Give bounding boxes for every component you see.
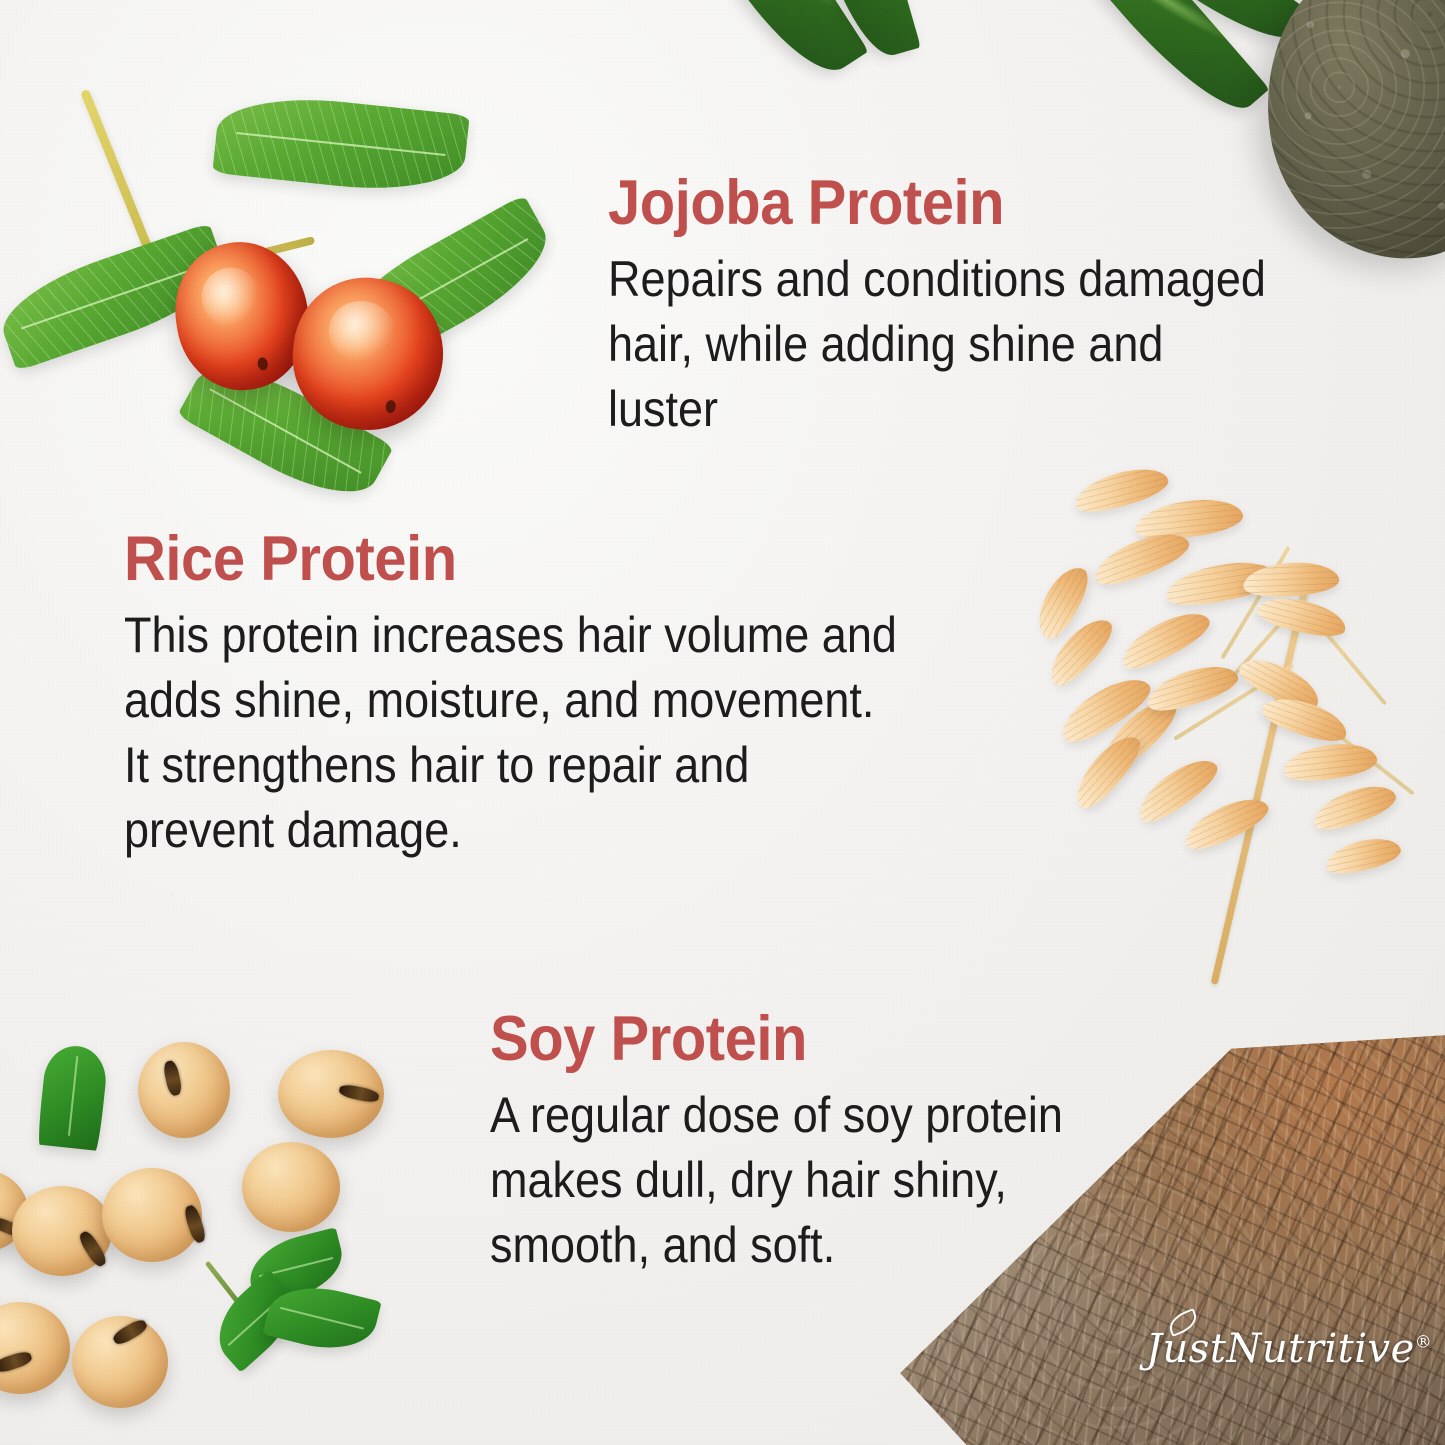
- soybean: [0, 1302, 70, 1394]
- rice-line-1: This protein increases hair volume and: [124, 603, 898, 668]
- oat-grain: [1281, 739, 1379, 786]
- soybean: [12, 1186, 112, 1276]
- brand-name: JustNutritive: [1146, 1326, 1415, 1372]
- rice-heading: Rice Protein: [124, 528, 915, 591]
- jujube-stem: [80, 89, 156, 259]
- soybean: [278, 1050, 384, 1138]
- jojoba-heading: Jojoba Protein: [608, 172, 1307, 235]
- soybean: [242, 1142, 340, 1232]
- jojoba-body: Repairs and conditions damaged hair, whi…: [608, 247, 1292, 442]
- soy-leaf-icon: [37, 1043, 109, 1151]
- soybean: [102, 1168, 202, 1262]
- section-rice: Rice Protein This protein increases hair…: [124, 528, 984, 863]
- oat-grain: [1115, 602, 1215, 676]
- rice-line-4: prevent damage.: [124, 798, 898, 863]
- soybean-photo: [0, 1020, 420, 1445]
- soy-line-1: A regular dose of soy protein: [490, 1083, 1102, 1148]
- jojoba-line-3: luster: [608, 377, 1292, 442]
- soy-body: A regular dose of soy protein makes dull…: [490, 1083, 1102, 1278]
- oat-sprig-photo: [995, 455, 1415, 1015]
- jojoba-line-2: hair, while adding shine and: [608, 312, 1292, 377]
- infographic-canvas: Jojoba Protein Repairs and conditions da…: [0, 0, 1445, 1445]
- rice-line-3: It strengthens hair to repair and: [124, 733, 898, 798]
- rice-line-2: adds shine, moisture, and movement.: [124, 668, 898, 733]
- jojoba-line-1: Repairs and conditions damaged: [608, 247, 1292, 312]
- soybean: [72, 1316, 168, 1408]
- section-soy: Soy Protein A regular dose of soy protei…: [490, 1008, 1170, 1278]
- jujube-leaf-icon: [212, 89, 469, 199]
- oat-grain: [1308, 777, 1400, 836]
- soy-heading: Soy Protein: [490, 1008, 1116, 1071]
- soy-line-2: makes dull, dry hair shiny,: [490, 1148, 1102, 1213]
- section-jojoba: Jojoba Protein Repairs and conditions da…: [608, 172, 1368, 442]
- soybean: [138, 1042, 230, 1138]
- jujube-fruit-photo: [28, 70, 548, 550]
- green-leaf-icon: [681, 0, 868, 92]
- registered-trademark-icon: ®: [1415, 1333, 1433, 1353]
- brand-logo: JustNutritive®: [1146, 1326, 1432, 1372]
- soy-line-3: smooth, and soft.: [490, 1213, 1102, 1278]
- rice-body: This protein increases hair volume and a…: [124, 603, 898, 863]
- oat-grain: [1323, 832, 1404, 879]
